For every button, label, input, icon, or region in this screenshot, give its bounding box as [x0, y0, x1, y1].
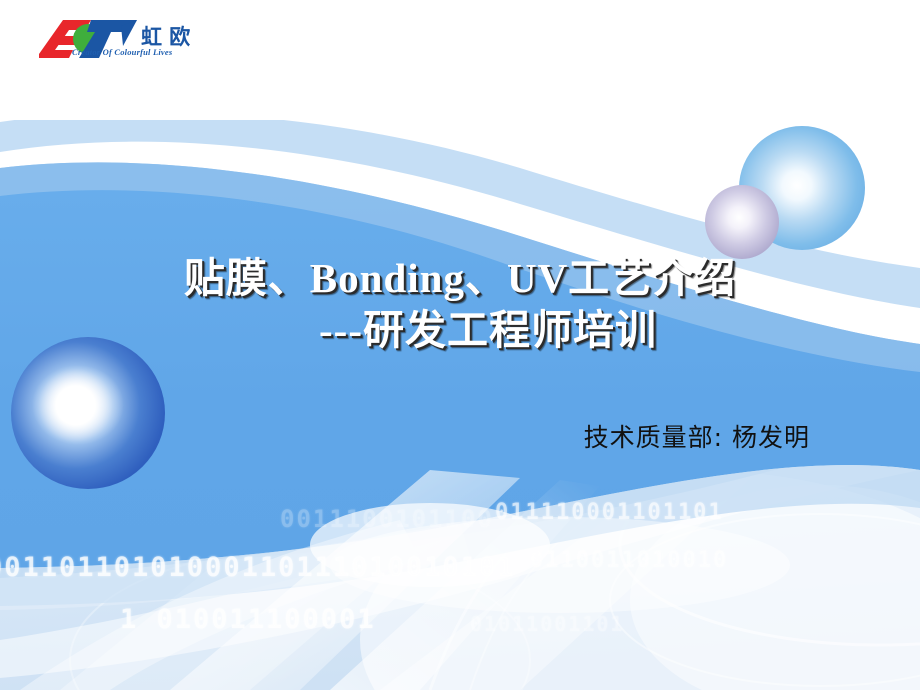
logo-tagline: Creator Of Colourful Lives [72, 47, 172, 57]
sphere-large-left [11, 337, 165, 489]
sphere-violet-right [705, 185, 779, 259]
slide-header: 虹 欧 Creator Of Colourful Lives [0, 0, 920, 120]
binary-decor-6: 0011100101100 [280, 505, 494, 533]
slide-canvas: 00110110101000110111010010101 1 01001110… [0, 0, 920, 690]
binary-decor-1: 00110110101000110111010010101 [0, 552, 515, 583]
logo-brand-text: 虹 欧 [141, 25, 190, 49]
title-block: 贴膜、Bonding、UV工艺介绍 ---研发工程师培训 [0, 252, 920, 356]
page-title: 贴膜、Bonding、UV工艺介绍 [0, 252, 920, 304]
binary-decor-5: 01011001101 [470, 612, 624, 636]
binary-decor-4: 0110011010010 [530, 548, 728, 573]
page-subtitle: ---研发工程师培训 [0, 304, 920, 356]
presenter-line: 技术质量部: 杨发明 [0, 418, 920, 454]
binary-decor-3: 011110001101101 [495, 500, 724, 525]
binary-decor-2: 1 010011100001 [120, 604, 376, 635]
